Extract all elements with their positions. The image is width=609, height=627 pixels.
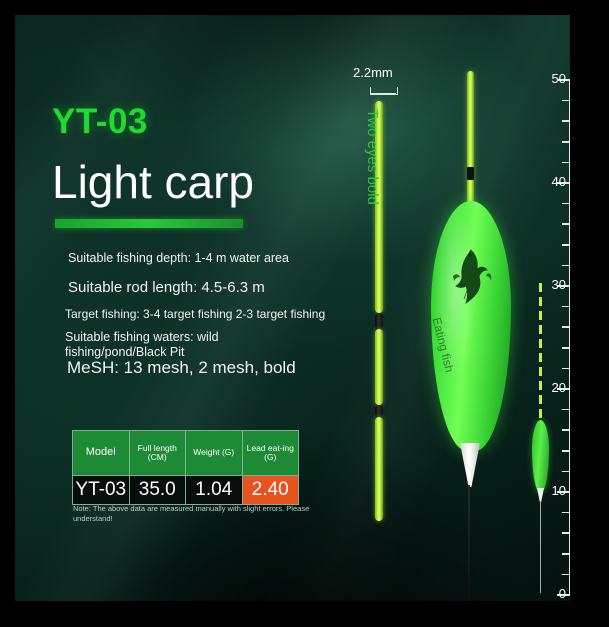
spec-fishing-depth: Suitable fishing depth: 1-4 m water area: [68, 251, 289, 265]
ruler-tick-4: [562, 553, 570, 555]
float-antenna-band: [467, 167, 474, 180]
spec-fishing-waters: Suitable fishing waters: wild fishing/po…: [65, 330, 315, 360]
ruler-tick-44: [562, 141, 570, 143]
antenna-band-3: [375, 405, 383, 417]
table-cell-model: YT-03: [73, 476, 130, 505]
product-poster: YT-03 Light carp Suitable fishing depth:…: [0, 0, 609, 627]
dimension-bracket-bar-icon: [370, 93, 396, 94]
ruler-tick-16: [562, 429, 570, 431]
spec-target-fishing: Target fishing: 3-4 target fishing 2-3 t…: [65, 307, 325, 321]
main-float-illustration: Eating fish: [413, 71, 528, 581]
ruler-tick-6: [562, 532, 570, 534]
ruler-tick-12: [562, 471, 570, 473]
specification-table: Model Full length (CM) Weight (G) Lead e…: [72, 430, 299, 505]
table-row: YT-03 35.0 1.04 2.40: [73, 476, 299, 505]
ruler-tick-14: [562, 450, 570, 452]
ruler-tick-42: [562, 162, 570, 164]
measurement-ruler: (CM) 50403020100: [555, 75, 570, 600]
poster-canvas: YT-03 Light carp Suitable fishing depth:…: [15, 15, 570, 601]
float-antenna-stem: [467, 71, 474, 207]
diameter-label: 2.2mm: [353, 65, 393, 80]
spec-mesh: MeSH: 13 mesh, 2 mesh, bold: [67, 358, 296, 378]
ruler-tick-32: [562, 265, 570, 267]
mini-float-body: [532, 420, 549, 492]
ruler-tick-8: [562, 512, 570, 514]
table-header-weight: Weight (G): [186, 431, 243, 476]
ruler-tick-36: [562, 223, 570, 225]
spec-rod-length: Suitable rod length: 4.5-6.3 m: [68, 279, 265, 296]
mini-float-tail: [540, 501, 541, 593]
table-header-lead-eating: Lead eat-ing (G): [242, 431, 299, 476]
product-name: Light carp: [52, 155, 254, 209]
ruler-tick-26: [562, 326, 570, 328]
fish-artwork-icon: [447, 246, 495, 308]
table-header-full-length: Full length (CM): [129, 431, 186, 476]
ruler-tick-48: [562, 100, 570, 102]
ruler-label-10: 10: [552, 483, 566, 498]
ruler-label-20: 20: [552, 380, 566, 395]
float-tail-line: [468, 485, 470, 601]
table-header-model: Model: [73, 431, 130, 476]
ruler-spine: [569, 80, 570, 595]
ruler-tick-22: [562, 368, 570, 370]
antenna-segment-4: [375, 417, 383, 521]
ruler-tick-18: [562, 409, 570, 411]
table-header-row: Model Full length (CM) Weight (G) Lead e…: [73, 431, 299, 476]
table-cell-weight: 1.04: [186, 476, 243, 505]
float-white-cone: [460, 443, 480, 487]
ruler-tick-38: [562, 203, 570, 205]
ruler-label-50: 50: [552, 71, 566, 86]
title-underline-bar: [55, 219, 243, 228]
mini-float-cone: [537, 488, 544, 502]
ruler-label-0: 0: [559, 586, 566, 601]
ruler-tick-34: [562, 244, 570, 246]
table-cell-lead-eating: 2.40: [242, 476, 299, 505]
antenna-band-1: [375, 313, 383, 329]
ruler-tick-2: [562, 574, 570, 576]
page-title: YT-03: [52, 102, 148, 142]
ruler-tick-28: [562, 306, 570, 308]
mini-float-illustration: [528, 283, 554, 593]
mini-float-stem: [539, 283, 542, 423]
ruler-tick-24: [562, 347, 570, 349]
table-footnote: Note: The above data are measured manual…: [73, 504, 318, 524]
ruler-label-30: 30: [552, 277, 566, 292]
antenna-segment-2: [375, 329, 383, 405]
table-cell-full-length: 35.0: [129, 476, 186, 505]
ruler-label-40: 40: [552, 174, 566, 189]
vertical-caption: Two eyes bold: [364, 109, 381, 239]
ruler-tick-46: [562, 120, 570, 122]
